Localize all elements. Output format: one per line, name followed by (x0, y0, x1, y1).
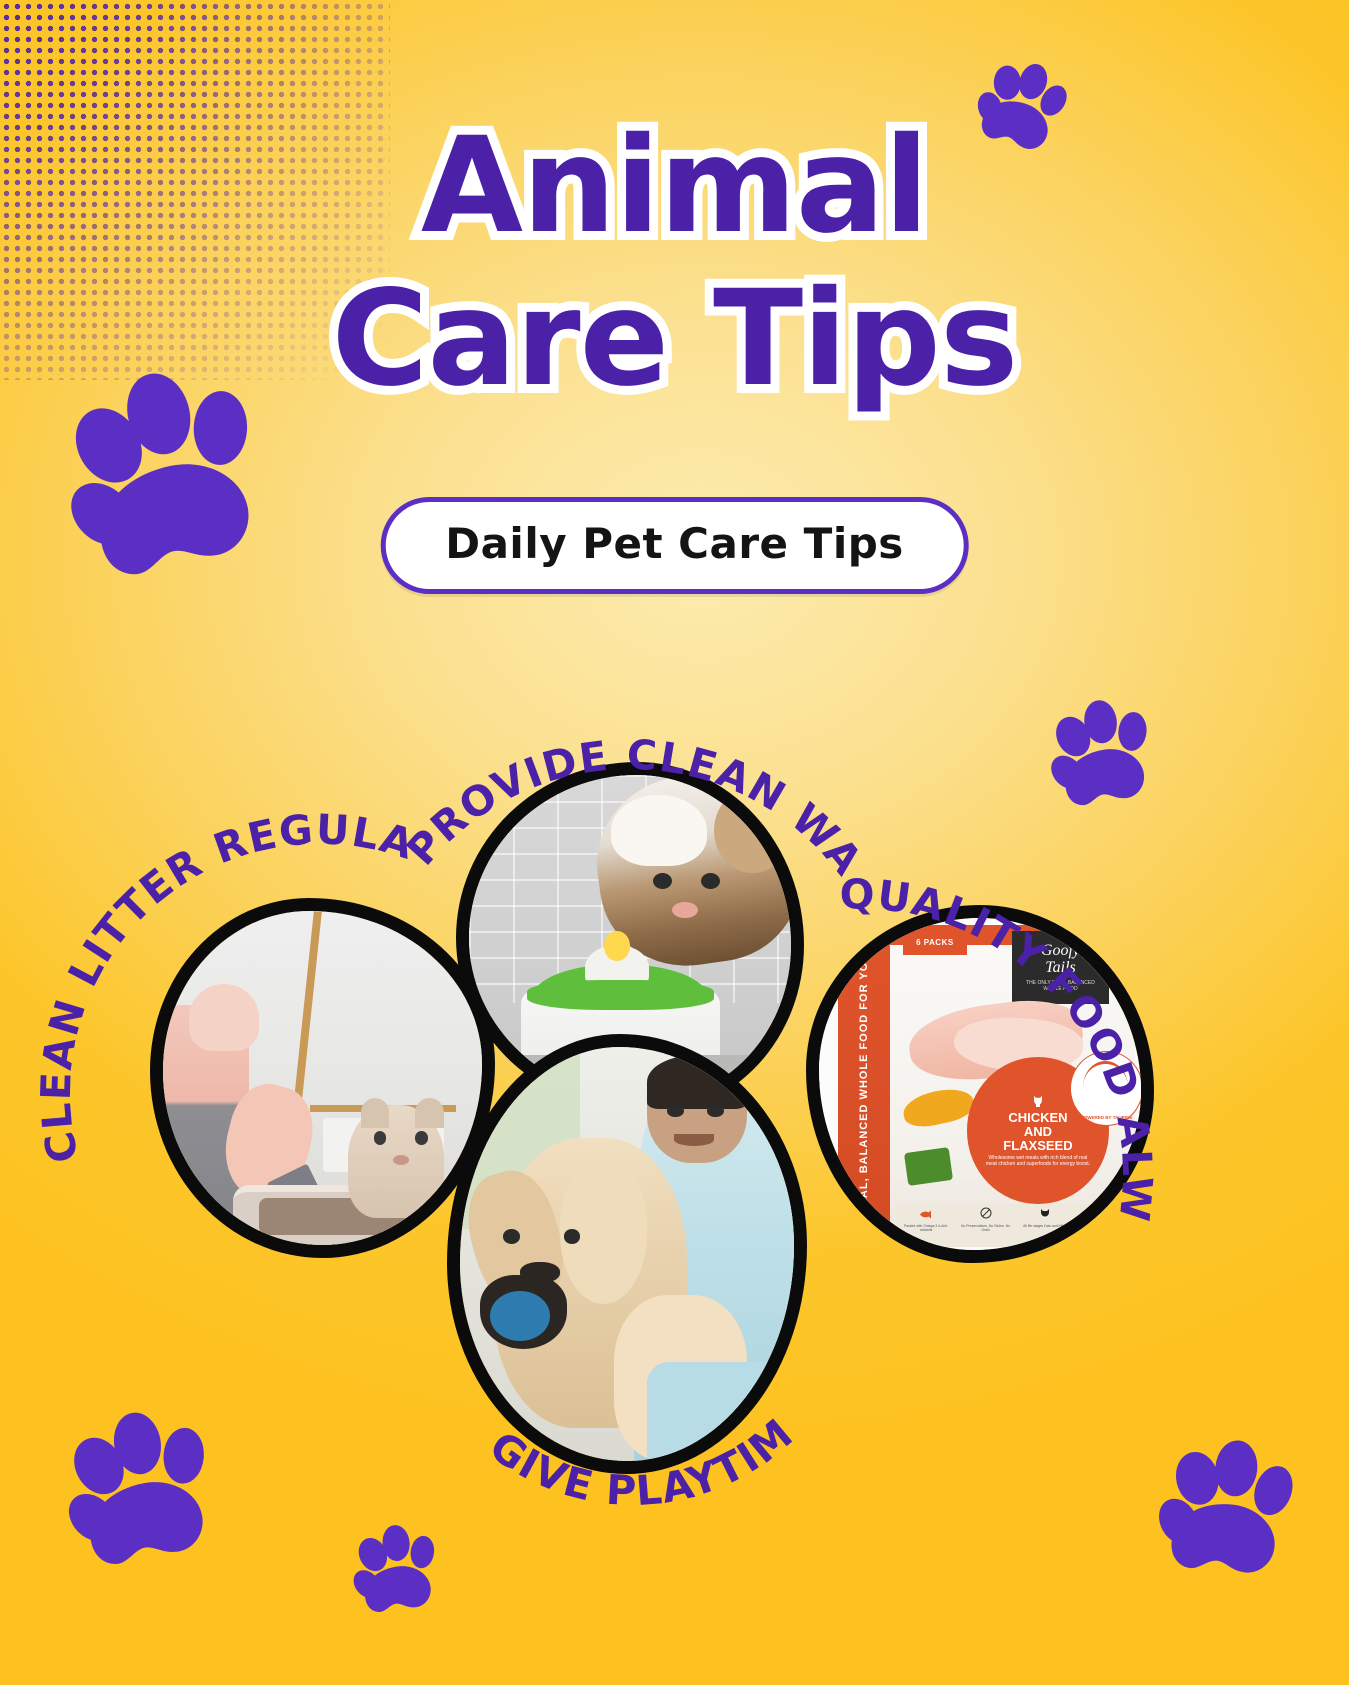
subtitle-text: Daily Pet Care Tips (445, 519, 904, 568)
product-side-text: ONLY REAL, BALANCED WHOLE FOOD FOR YOUR … (838, 931, 890, 1236)
no-preservatives-icon (980, 1207, 992, 1219)
paw-print-icon (1151, 1433, 1310, 1587)
tip-image-food: ONLY REAL, BALANCED WHOLE FOOD FOR YOUR … (806, 905, 1154, 1263)
cat-head-icon (1039, 1207, 1051, 1219)
product-packs-badge: 6 PACKS (903, 931, 967, 954)
product-feature-row: Packed with Omega 3 & Anti-oxidants No P… (896, 1204, 1134, 1247)
battery-energy-icon (1101, 1207, 1109, 1219)
poster-canvas: Animal Care Tips Daily Pet Care Tips (0, 0, 1349, 1685)
product-brand-block: Goofy Tails THE ONLY REAL, BALANCED WHOL… (1012, 931, 1109, 1004)
product-feature: No Preservatives, No Gluten, No Grain (959, 1206, 1011, 1232)
product-feature: Packed with Omega 3 & Anti-oxidants (900, 1206, 952, 1232)
product-net-weight: Net wt x 70g = 200g (896, 1245, 1134, 1263)
product-feature: Energy Booster Formula (1079, 1206, 1131, 1228)
paw-print-icon (1041, 693, 1167, 816)
subtitle-badge: Daily Pet Care Tips (380, 497, 969, 594)
product-feature: All life stages Cats and Kitten (1019, 1206, 1071, 1228)
title-line-2: Care Tips (0, 263, 1349, 416)
page-title: Animal Care Tips (0, 110, 1349, 416)
cat-silhouette-icon (1030, 1093, 1046, 1109)
title-line-1: Animal (0, 110, 1349, 263)
tip-image-litter (150, 898, 495, 1258)
paw-print-icon (52, 1399, 236, 1579)
fish-icon (919, 1210, 933, 1219)
tip-image-playtime (447, 1034, 807, 1474)
paw-print-icon (348, 1520, 449, 1619)
